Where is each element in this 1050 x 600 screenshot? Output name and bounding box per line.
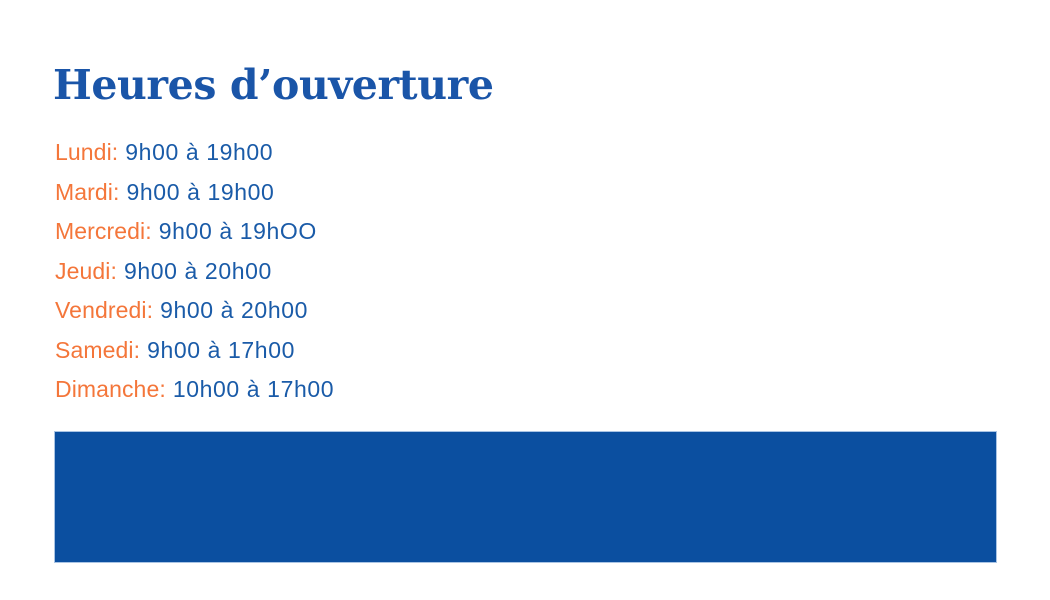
- list-item: Mardi:9h00 à 19h00: [55, 173, 655, 213]
- slide-canvas: Heures d’ouverture Lundi:9h00 à 19h00 Ma…: [0, 0, 1050, 600]
- list-item: Lundi:9h00 à 19h00: [55, 133, 655, 173]
- list-item: Vendredi:9h00 à 20h00: [55, 291, 655, 331]
- list-item: Dimanche:10h00 à 17h00: [55, 370, 655, 410]
- day-hours-jeudi: 9h00 à 20h00: [124, 258, 272, 284]
- day-label-mardi: Mardi:: [55, 179, 120, 205]
- day-label-mercredi: Mercredi:: [55, 218, 152, 244]
- blue-content-block: [54, 431, 997, 563]
- day-hours-mardi: 9h00 à 19h00: [127, 179, 275, 205]
- list-item: Samedi:9h00 à 17h00: [55, 331, 655, 371]
- day-label-dimanche: Dimanche:: [55, 376, 166, 402]
- day-hours-lundi: 9h00 à 19h00: [125, 139, 273, 165]
- day-label-vendredi: Vendredi:: [55, 297, 153, 323]
- day-hours-samedi: 9h00 à 17h00: [147, 337, 295, 363]
- day-label-jeudi: Jeudi:: [55, 258, 117, 284]
- day-label-samedi: Samedi:: [55, 337, 140, 363]
- list-item: Mercredi:9h00 à 19hOO: [55, 212, 655, 252]
- list-item: Jeudi:9h00 à 20h00: [55, 252, 655, 292]
- day-hours-vendredi: 9h00 à 20h00: [160, 297, 308, 323]
- page-title: Heures d’ouverture: [53, 59, 494, 111]
- opening-hours-list: Lundi:9h00 à 19h00 Mardi:9h00 à 19h00 Me…: [55, 133, 655, 410]
- day-hours-dimanche: 10h00 à 17h00: [173, 376, 334, 402]
- day-label-lundi: Lundi:: [55, 139, 118, 165]
- day-hours-mercredi: 9h00 à 19hOO: [159, 218, 317, 244]
